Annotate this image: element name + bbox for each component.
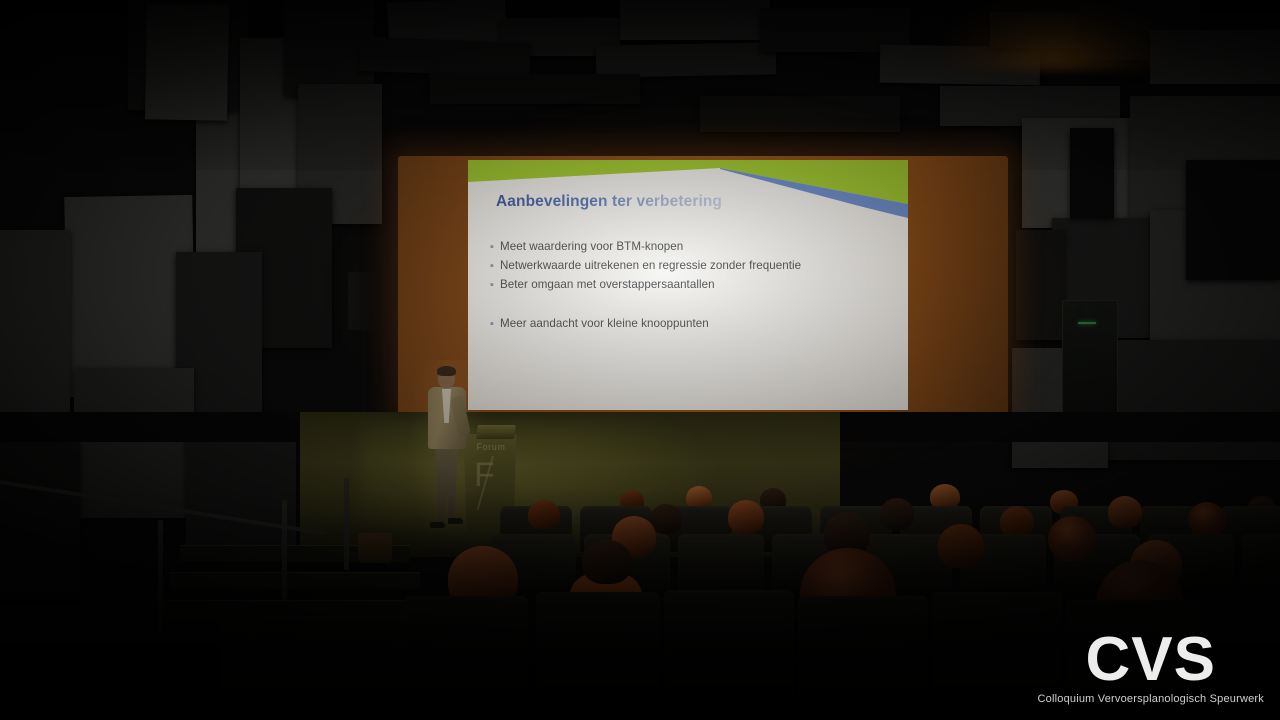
stage-step xyxy=(170,572,420,589)
audience-head xyxy=(1188,502,1226,538)
slide-bullet-list: ▪ Meet waardering voor BTM-knopen ▪ Netw… xyxy=(490,238,890,334)
bullet-text: Meer aandacht voor kleine knooppunten xyxy=(500,315,709,333)
audience-seat xyxy=(1242,534,1280,592)
audience-head xyxy=(938,524,984,568)
lectern-venue-label: Forum xyxy=(468,442,514,452)
acoustic-panel xyxy=(1100,340,1280,460)
audience-seat-foreground xyxy=(798,596,928,720)
presenter-shoe xyxy=(430,522,445,528)
bullet-text: Netwerkwaarde uitrekenen en regressie zo… xyxy=(500,257,801,275)
list-spacer: . . xyxy=(490,295,890,315)
conference-room-photo: Aanbevelingen ter verbetering ▪ Meet waa… xyxy=(0,0,1280,720)
list-item: ▪ Meer aandacht voor kleine knooppunten xyxy=(490,315,890,333)
acoustic-panel xyxy=(145,3,229,120)
presenter-legs xyxy=(433,446,460,524)
acoustic-panel xyxy=(1186,160,1280,280)
handrail-post xyxy=(282,500,287,600)
acoustic-panel xyxy=(700,96,900,132)
acoustic-panel xyxy=(1070,128,1114,218)
list-item: ▪ Meet waardering voor BTM-knopen xyxy=(490,238,890,256)
bullet-text: Meet waardering voor BTM-knopen xyxy=(500,238,683,256)
bullet-marker-icon: ▪ xyxy=(490,276,500,294)
bag-on-floor xyxy=(358,533,392,563)
acoustic-panel xyxy=(620,0,770,40)
acoustic-panel xyxy=(430,74,640,104)
audience-seat-foreground xyxy=(664,590,794,720)
acoustic-panel xyxy=(1016,230,1064,340)
slide-title: Aanbevelingen ter verbetering xyxy=(496,193,722,211)
audience-seat-foreground xyxy=(220,616,410,720)
acoustic-panel xyxy=(596,42,777,77)
equipment-led-indicator xyxy=(1078,322,1096,324)
audience-seat-foreground xyxy=(404,596,528,720)
presenter-laptop xyxy=(476,425,515,439)
acoustic-panel xyxy=(0,440,80,600)
presenter xyxy=(424,368,470,536)
lectern-logo-letter: F xyxy=(474,458,495,492)
audience-seat-foreground xyxy=(932,592,1062,720)
pa-speaker-cabinet xyxy=(348,272,380,330)
handrail-post xyxy=(344,478,349,570)
audience-head xyxy=(528,500,560,530)
ceiling-amber-light xyxy=(940,0,1170,70)
audience-head-foreground xyxy=(582,540,632,584)
presenter-shoe xyxy=(448,518,463,524)
projection-screen: Aanbevelingen ter verbetering ▪ Meet waa… xyxy=(398,156,1008,414)
audience-head xyxy=(1048,516,1096,562)
presentation-slide: Aanbevelingen ter verbetering ▪ Meet waa… xyxy=(468,160,908,410)
audience-seat xyxy=(678,534,764,592)
audience-seat-foreground xyxy=(1066,600,1200,720)
audience-head xyxy=(1108,496,1142,528)
equipment-rack xyxy=(1062,300,1118,422)
bullet-text: Beter omgaan met overstappersaantallen xyxy=(500,276,715,294)
bullet-marker-icon: ▪ xyxy=(490,315,500,333)
presenter-hair xyxy=(437,366,456,376)
acoustic-panel xyxy=(359,37,530,77)
list-item: ▪ Beter omgaan met overstappersaantallen xyxy=(490,276,890,294)
list-item: ▪ Netwerkwaarde uitrekenen en regressie … xyxy=(490,257,890,275)
bullet-marker-icon: ▪ xyxy=(490,238,500,256)
bullet-marker-icon: ▪ xyxy=(490,257,500,275)
audience-seat-foreground xyxy=(536,592,660,720)
handrail-post xyxy=(158,520,163,630)
slide-header-graphic xyxy=(468,160,908,220)
slide-band-svg xyxy=(468,160,908,220)
audience-head xyxy=(728,500,764,534)
audience-head xyxy=(880,498,914,530)
acoustic-panel xyxy=(0,230,70,440)
